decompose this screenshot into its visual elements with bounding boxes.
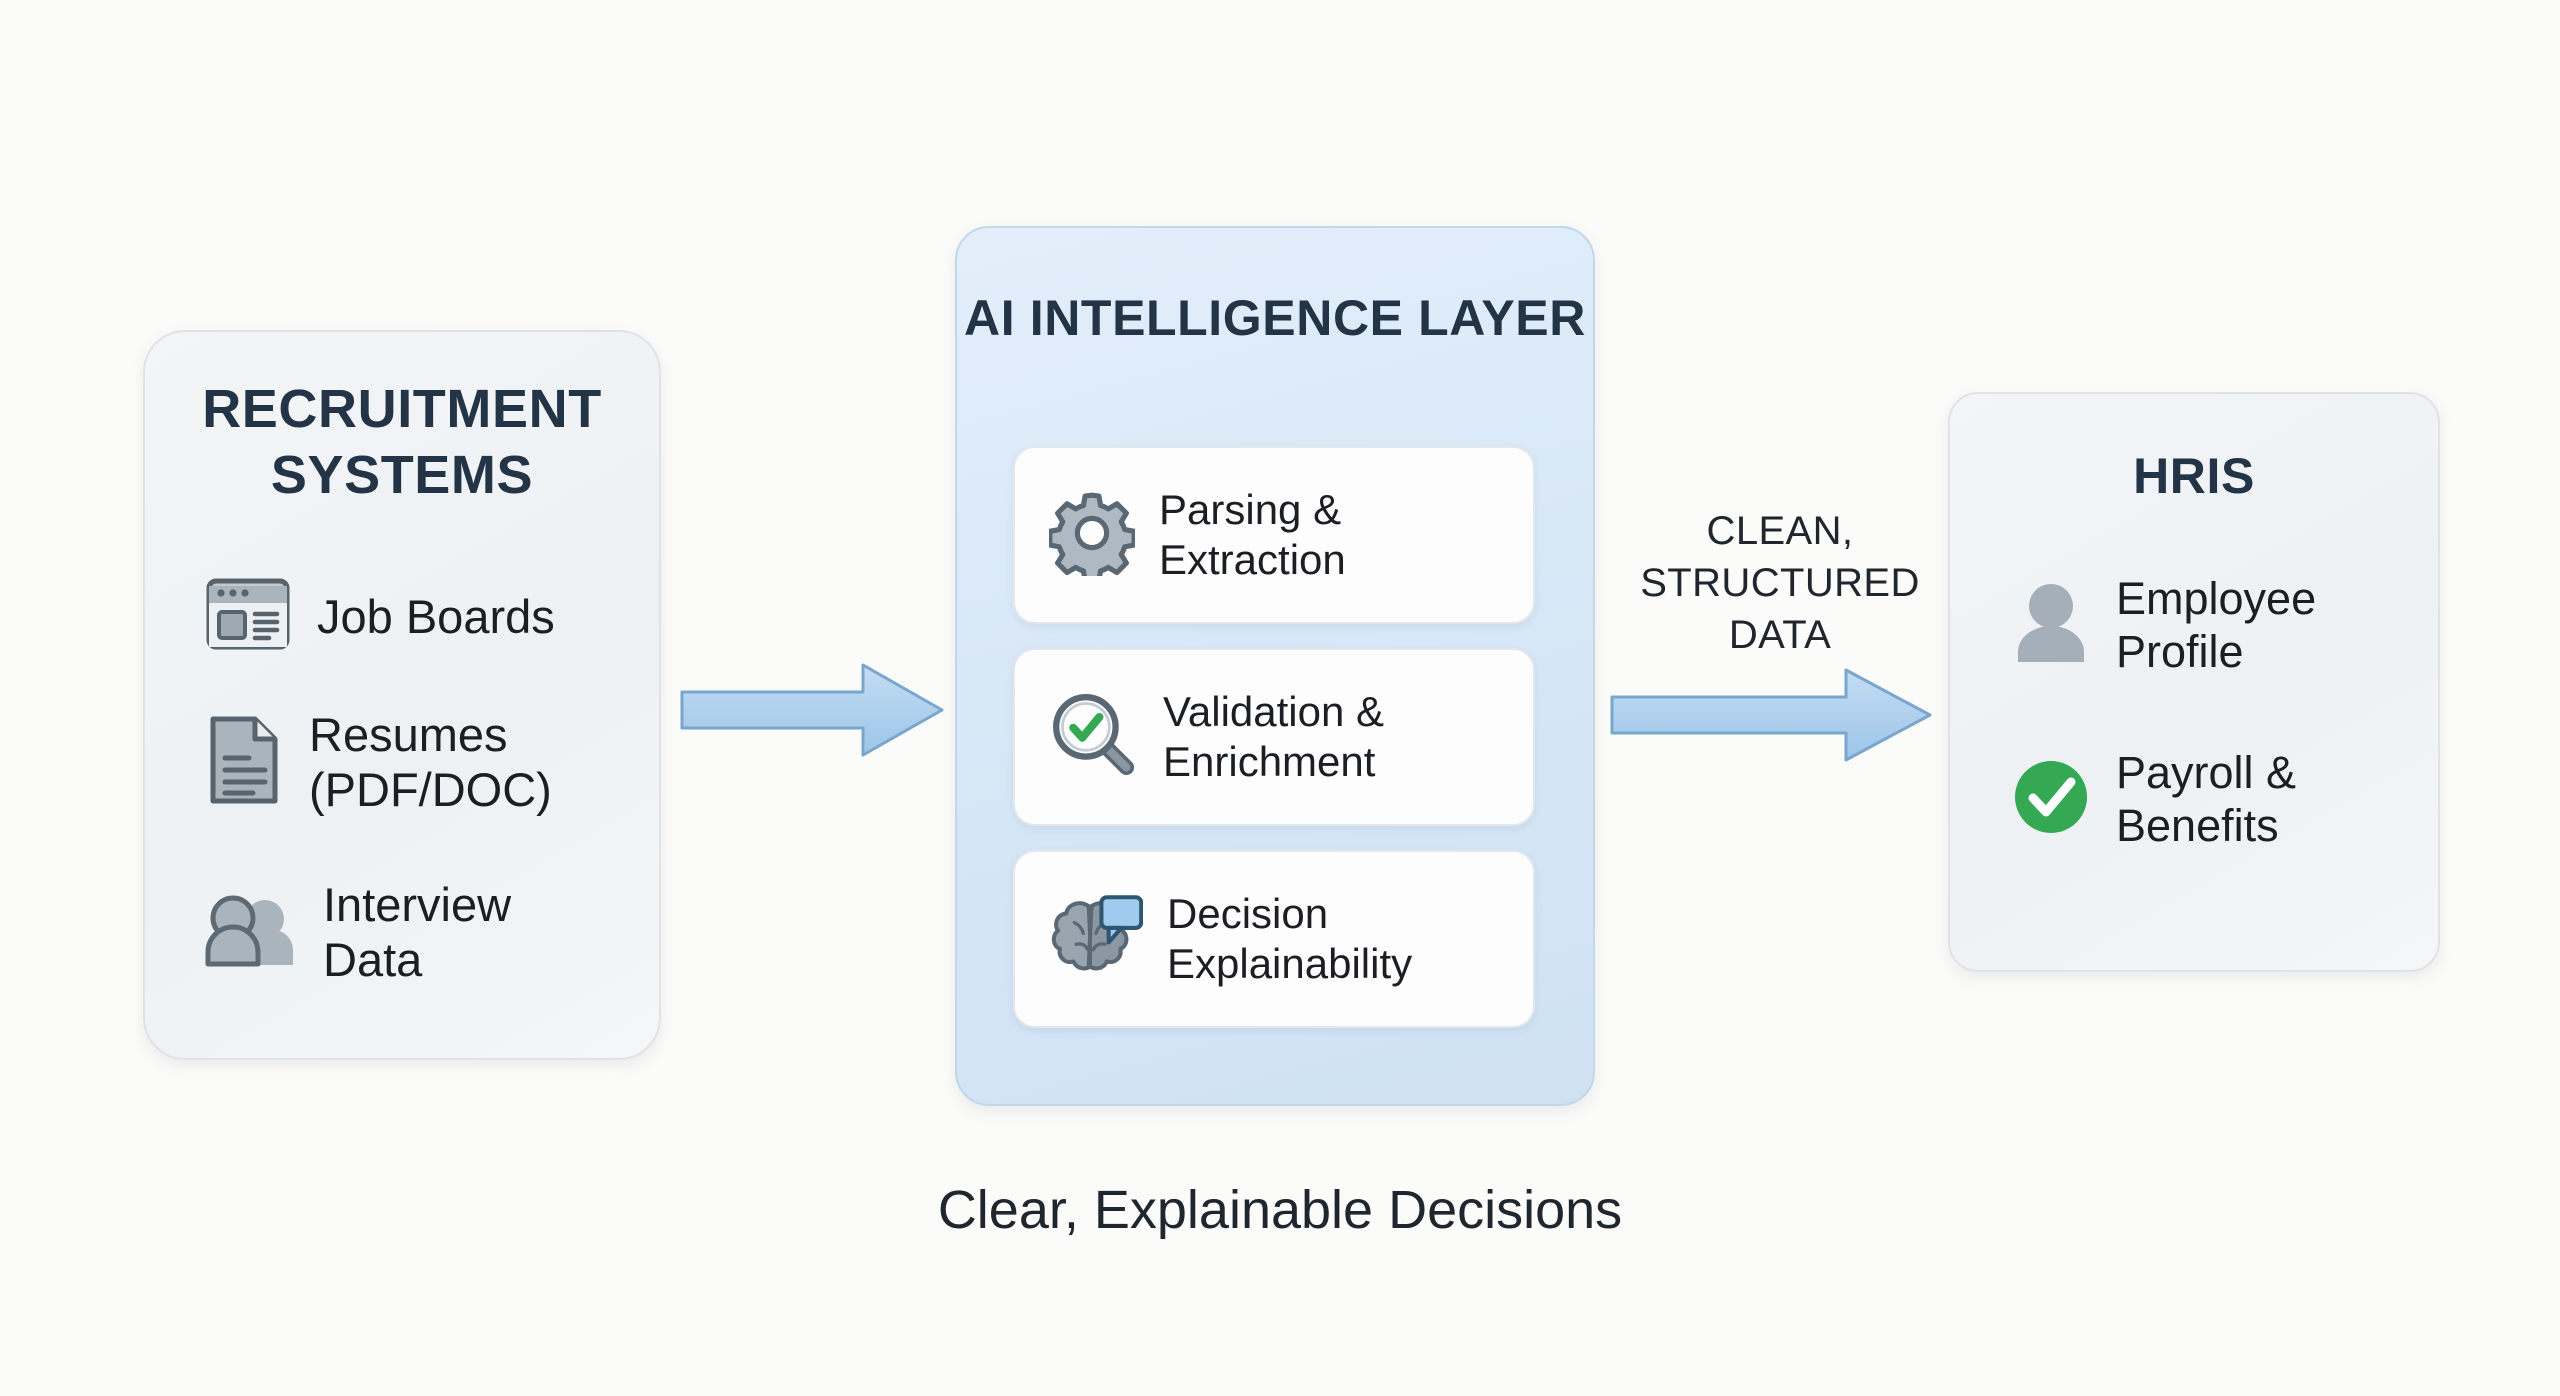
list-item-label: Resumes (PDF/DOC): [309, 707, 552, 818]
panel-title-hris: HRIS: [1950, 446, 2438, 507]
subcard-parsing-extraction[interactable]: Parsing & Extraction: [1013, 446, 1535, 624]
job-boards-icon: [205, 577, 291, 656]
employee-person-icon: [2012, 582, 2090, 669]
list-item-interview-data[interactable]: Interview Data: [203, 877, 511, 988]
list-item-label: Interview Data: [323, 877, 511, 988]
stage-panel-recruitment-systems[interactable]: RECRUITMENT SYSTEMS Job Boards: [143, 330, 661, 1060]
subcard-decision-explainability[interactable]: Decision Explainability: [1013, 850, 1535, 1028]
subcard-label: Validation & Enrichment: [1163, 687, 1384, 788]
list-item-job-boards[interactable]: Job Boards: [205, 577, 555, 656]
magnifier-check-icon: [1049, 690, 1139, 785]
panel-title-ai-intelligence-layer: AI INTELLIGENCE LAYER: [957, 288, 1593, 349]
connector-arrow-2: [1608, 660, 1938, 775]
connector-label-clean-structured-data: CLEAN, STRUCTURED DATA: [1600, 505, 1960, 661]
list-item-resumes[interactable]: Resumes (PDF/DOC): [205, 707, 552, 818]
list-item-label: Employee Profile: [2116, 572, 2316, 678]
list-item-label: Job Boards: [317, 589, 555, 644]
stage-panel-hris[interactable]: HRIS Employee Profile Payroll & Benefits: [1948, 392, 2440, 972]
stage-panel-ai-intelligence-layer[interactable]: AI INTELLIGENCE LAYER Parsing & Extracti…: [955, 226, 1595, 1106]
diagram-canvas: RECRUITMENT SYSTEMS Job Boards: [0, 0, 2560, 1396]
green-check-circle-icon: [2012, 758, 2090, 841]
list-item-label: Payroll & Benefits: [2116, 746, 2296, 852]
panel-title-recruitment-systems: RECRUITMENT SYSTEMS: [145, 377, 659, 509]
gear-icon: [1049, 490, 1135, 581]
subcard-label: Decision Explainability: [1167, 889, 1412, 990]
interview-people-icon: [203, 892, 297, 973]
brain-speech-icon: [1049, 891, 1143, 988]
list-item-employee-profile[interactable]: Employee Profile: [2012, 572, 2316, 678]
connector-arrow-1: [678, 655, 948, 770]
diagram-caption: Clear, Explainable Decisions: [780, 1175, 1780, 1245]
subcard-validation-enrichment[interactable]: Validation & Enrichment: [1013, 648, 1535, 826]
list-item-payroll-benefits[interactable]: Payroll & Benefits: [2012, 746, 2296, 852]
subcard-label: Parsing & Extraction: [1159, 485, 1346, 586]
resume-document-icon: [205, 714, 283, 811]
